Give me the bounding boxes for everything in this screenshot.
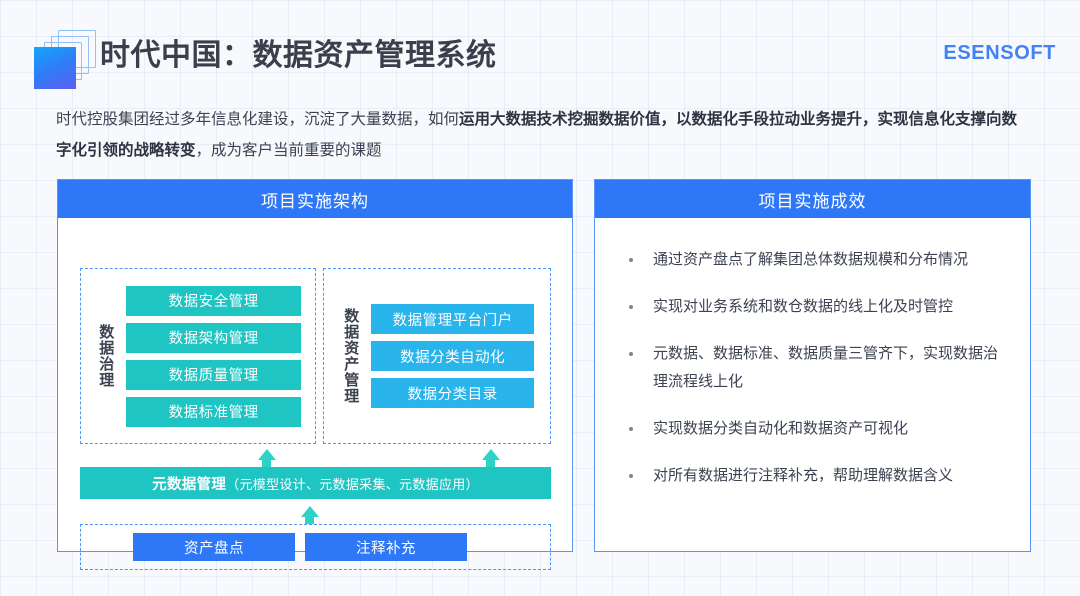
governance-group-label: 数据治理: [95, 324, 116, 388]
metadata-management-bar[interactable]: 元数据管理 （元模型设计、元数据采集、元数据应用）: [80, 467, 551, 499]
metadata-management-sublabel: （元模型设计、元数据采集、元数据应用）: [226, 474, 479, 493]
architecture-panel-body: 数据治理 数据安全管理 数据架构管理 数据质量管理 数据标准管理 数据资产管理 …: [58, 218, 572, 552]
list-item: 通过资产盘点了解集团总体数据规模和分布情况: [625, 246, 1004, 274]
asset-management-group: 数据资产管理 数据管理平台门户 数据分类自动化 数据分类目录: [323, 268, 551, 444]
intro-text-part2: ，成为客户当前重要的课题: [196, 142, 382, 159]
asset-item-auto-classification[interactable]: 数据分类自动化: [371, 341, 534, 371]
page-title: 时代中国：数据资产管理系统: [100, 30, 497, 74]
results-panel: 项目实施成效 通过资产盘点了解集团总体数据规模和分布情况 实现对业务系统和数仓数…: [594, 179, 1031, 552]
list-item: 对所有数据进行注释补充，帮助理解数据含义: [625, 462, 1004, 490]
page-header: 时代中国：数据资产管理系统 ESENSOFT: [0, 0, 1080, 96]
asset-item-list: 数据管理平台门户 数据分类自动化 数据分类目录: [371, 304, 534, 408]
governance-group: 数据治理 数据安全管理 数据架构管理 数据质量管理 数据标准管理: [80, 268, 316, 444]
asset-management-group-label: 数据资产管理: [340, 308, 361, 404]
governance-item-list: 数据安全管理 数据架构管理 数据质量管理 数据标准管理: [126, 286, 301, 427]
architecture-panel: 项目实施架构 数据治理 数据安全管理 数据架构管理 数据质量管理 数据标准管理 …: [57, 179, 573, 552]
governance-item-architecture[interactable]: 数据架构管理: [126, 323, 301, 353]
asset-item-classification-catalog[interactable]: 数据分类目录: [371, 378, 534, 408]
up-arrow-metadata-stem: [305, 516, 314, 524]
list-item: 实现对业务系统和数仓数据的线上化及时管控: [625, 293, 1004, 321]
list-item: 实现数据分类自动化和数据资产可视化: [625, 415, 1004, 443]
governance-item-security[interactable]: 数据安全管理: [126, 286, 301, 316]
logo-gradient-square: [34, 47, 76, 89]
foundation-item-annotation[interactable]: 注释补充: [305, 533, 467, 561]
intro-paragraph: 时代控股集团经过多年信息化建设，沉淀了大量数据，如何运用大数据技术挖掘数据价值，…: [56, 104, 1028, 166]
governance-item-standard[interactable]: 数据标准管理: [126, 397, 301, 427]
up-arrow-asset-stem: [486, 459, 495, 467]
results-panel-title: 项目实施成效: [595, 180, 1030, 218]
governance-item-quality[interactable]: 数据质量管理: [126, 360, 301, 390]
metadata-management-label: 元数据管理: [152, 473, 226, 494]
list-item: 元数据、数据标准、数据质量三管齐下，实现数据治理流程线上化: [625, 340, 1004, 396]
stacked-squares-logo-icon: [34, 30, 96, 90]
architecture-panel-title: 项目实施架构: [58, 180, 572, 218]
up-arrow-governance-stem: [262, 459, 271, 467]
intro-text-part1: 时代控股集团经过多年信息化建设，沉淀了大量数据，如何: [56, 111, 459, 128]
foundation-item-asset-inventory[interactable]: 资产盘点: [133, 533, 295, 561]
foundation-group: 资产盘点 注释补充: [80, 524, 551, 570]
asset-item-platform-portal[interactable]: 数据管理平台门户: [371, 304, 534, 334]
brand-logo-text: ESENSOFT: [943, 42, 1056, 65]
results-bullet-list: 通过资产盘点了解集团总体数据规模和分布情况 实现对业务系统和数仓数据的线上化及时…: [595, 218, 1030, 490]
